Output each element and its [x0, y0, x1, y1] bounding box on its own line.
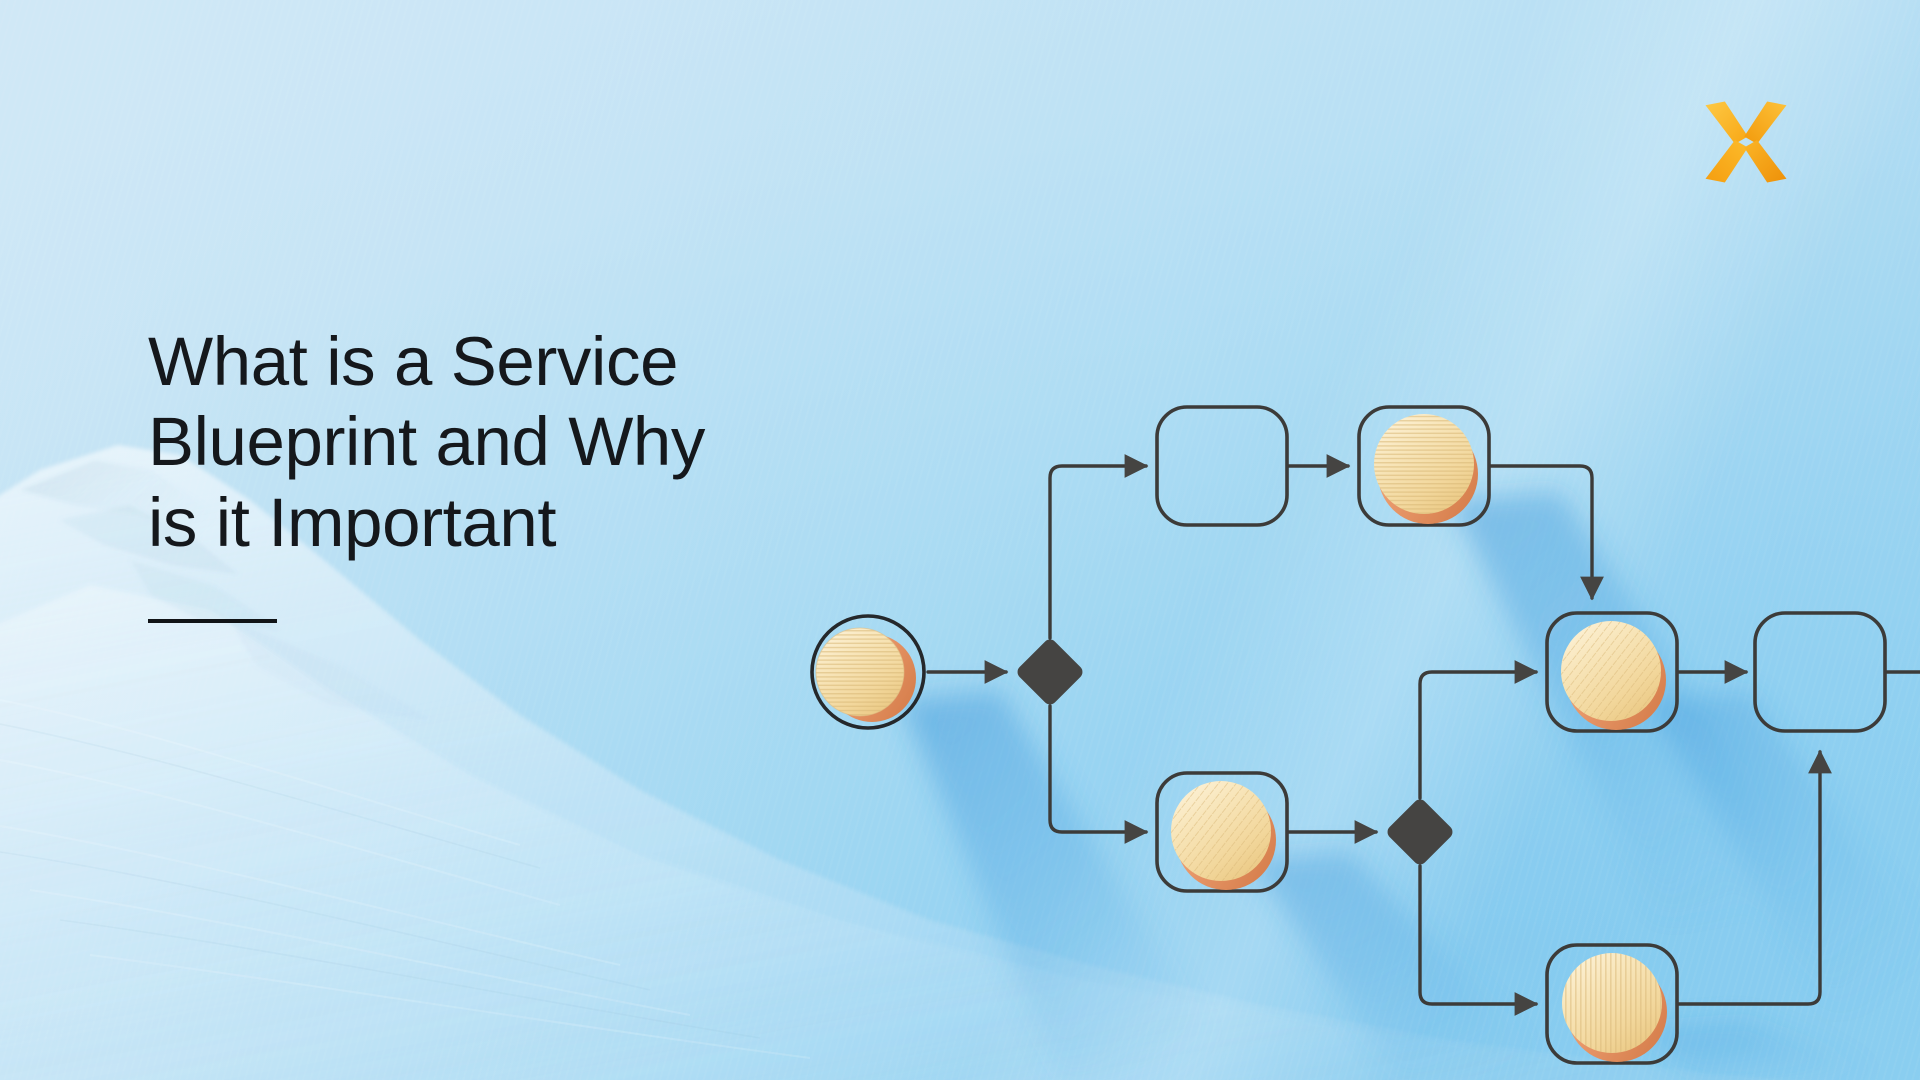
x-logo-blade-bottom-right — [1744, 140, 1786, 182]
x-logo-blade-top-left — [1706, 102, 1748, 144]
x-logo-blade-bottom-left — [1706, 140, 1748, 182]
headline-block: What is a Service Blueprint and Why is i… — [148, 322, 868, 623]
x-logo-blade-top-right — [1744, 102, 1786, 144]
hero-banner: What is a Service Blueprint and Why is i… — [0, 0, 1920, 1080]
title-divider — [148, 619, 277, 623]
page-title: What is a Service Blueprint and Why is i… — [148, 322, 868, 563]
x-logo[interactable] — [1700, 96, 1792, 188]
